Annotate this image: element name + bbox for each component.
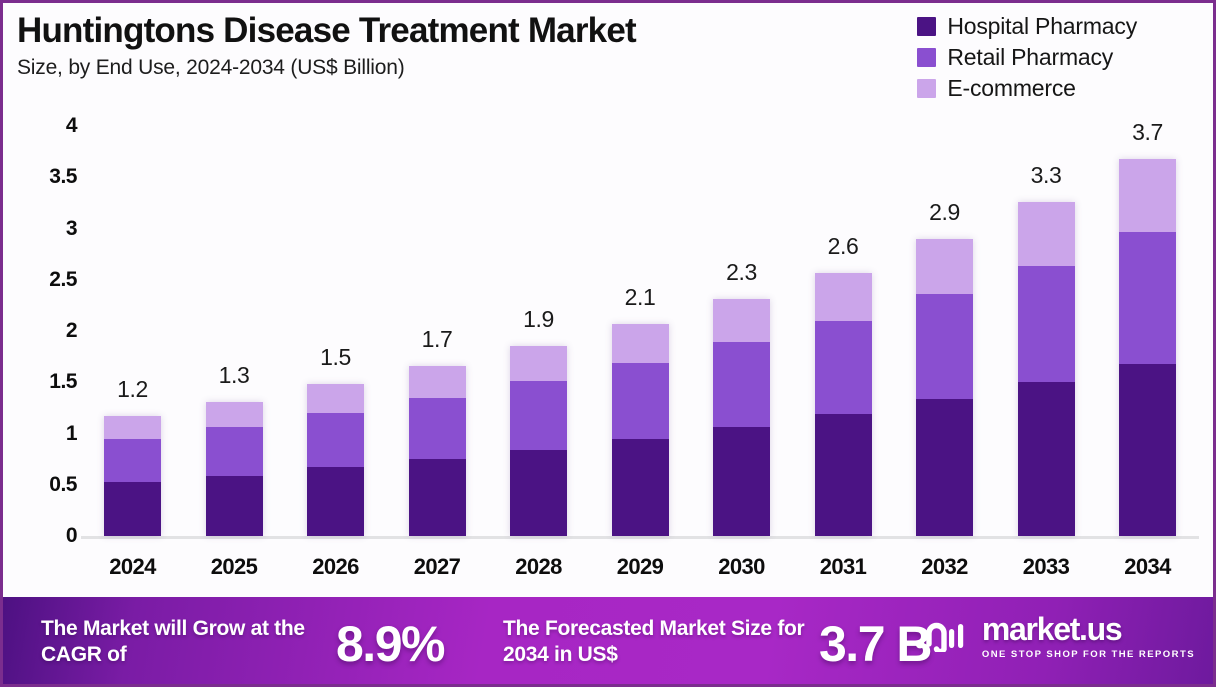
stacked-bar[interactable]	[815, 273, 872, 536]
bar-group[interactable]: 1.22024	[104, 3, 161, 603]
bar-value-label: 2.3	[672, 259, 812, 286]
bar-segment-retail-pharmacy[interactable]	[1119, 232, 1176, 364]
y-axis-tick-label: 3.5	[21, 165, 77, 189]
bar-segment-hospital-pharmacy[interactable]	[510, 450, 567, 536]
bar-value-label: 3.3	[976, 162, 1116, 189]
bar-segment-hospital-pharmacy[interactable]	[409, 459, 466, 536]
y-axis-tick-label: 2.5	[21, 268, 77, 292]
bar-segment-retail-pharmacy[interactable]	[713, 342, 770, 427]
bar-segment-retail-pharmacy[interactable]	[409, 398, 466, 460]
y-axis-tick-label: 4	[21, 114, 77, 138]
bar-segment-hospital-pharmacy[interactable]	[307, 467, 364, 536]
bar-value-label: 2.1	[570, 284, 710, 311]
bar-segment-retail-pharmacy[interactable]	[815, 321, 872, 414]
bar-segment-hospital-pharmacy[interactable]	[612, 439, 669, 536]
bar-segment-e-commerce[interactable]	[206, 402, 263, 428]
bar-segment-e-commerce[interactable]	[409, 366, 466, 398]
bar-segment-e-commerce[interactable]	[510, 346, 567, 381]
bar-group[interactable]: 1.32025	[206, 3, 263, 603]
brand-wordmark: market.us ONE STOP SHOP FOR THE REPORTS	[982, 613, 1195, 660]
chart-page: Huntingtons Disease Treatment Market Siz…	[0, 0, 1216, 687]
brand-name: market.us	[982, 613, 1195, 645]
footer-size-label: The Forecasted Market Size for 2034 in U…	[503, 616, 813, 669]
chart-plot-area: 00.511.522.533.541.220241.320251.520261.…	[3, 3, 1213, 603]
bar-group[interactable]: 3.72034	[1119, 3, 1176, 603]
y-axis-tick-label: 2	[21, 319, 77, 343]
bar-segment-e-commerce[interactable]	[104, 416, 161, 439]
bar-segment-e-commerce[interactable]	[612, 324, 669, 363]
stacked-bar[interactable]	[307, 384, 364, 536]
bar-group[interactable]: 2.32030	[713, 3, 770, 603]
stacked-bar[interactable]	[206, 402, 263, 536]
bar-value-label: 2.9	[875, 199, 1015, 226]
bar-group[interactable]: 2.12029	[612, 3, 669, 603]
y-axis-tick-label: 0	[21, 524, 77, 548]
footer-cagr-value: 8.9%	[336, 615, 444, 673]
bar-segment-e-commerce[interactable]	[1119, 159, 1176, 232]
bar-group[interactable]: 1.72027	[409, 3, 466, 603]
bar-group[interactable]: 1.52026	[307, 3, 364, 603]
stacked-bar[interactable]	[916, 239, 973, 536]
x-axis-tick-label: 2034	[1078, 554, 1216, 580]
bar-segment-hospital-pharmacy[interactable]	[104, 482, 161, 536]
bar-group[interactable]: 2.62031	[815, 3, 872, 603]
bar-segment-retail-pharmacy[interactable]	[612, 363, 669, 439]
bar-segment-retail-pharmacy[interactable]	[916, 294, 973, 399]
bar-segment-hospital-pharmacy[interactable]	[1119, 364, 1176, 536]
stacked-bar[interactable]	[510, 346, 567, 536]
bar-segment-e-commerce[interactable]	[916, 239, 973, 294]
bar-segment-hospital-pharmacy[interactable]	[713, 427, 770, 536]
stacked-bar[interactable]	[713, 299, 770, 536]
stacked-bar[interactable]	[612, 324, 669, 536]
bar-segment-hospital-pharmacy[interactable]	[206, 476, 263, 536]
y-axis-tick-label: 0.5	[21, 473, 77, 497]
bar-segment-hospital-pharmacy[interactable]	[815, 414, 872, 536]
bar-group[interactable]: 2.92032	[916, 3, 973, 603]
market-us-logo-icon	[915, 616, 971, 657]
stacked-bar[interactable]	[409, 366, 466, 536]
bar-group[interactable]: 3.32033	[1018, 3, 1075, 603]
bar-segment-retail-pharmacy[interactable]	[307, 413, 364, 467]
bar-value-label: 2.6	[773, 233, 913, 260]
bar-value-label: 3.7	[1078, 119, 1216, 146]
bar-segment-retail-pharmacy[interactable]	[510, 381, 567, 450]
y-axis-tick-label: 1	[21, 422, 77, 446]
bar-group[interactable]: 1.92028	[510, 3, 567, 603]
bar-segment-retail-pharmacy[interactable]	[104, 439, 161, 482]
bar-segment-retail-pharmacy[interactable]	[206, 427, 263, 475]
brand-logo: market.us ONE STOP SHOP FOR THE REPORTS	[915, 613, 1195, 660]
bar-segment-hospital-pharmacy[interactable]	[1018, 382, 1075, 536]
stacked-bar[interactable]	[104, 416, 161, 536]
bar-segment-e-commerce[interactable]	[713, 299, 770, 342]
y-axis-tick-label: 3	[21, 217, 77, 241]
stacked-bar[interactable]	[1119, 159, 1176, 536]
bar-segment-e-commerce[interactable]	[815, 273, 872, 321]
brand-tagline: ONE STOP SHOP FOR THE REPORTS	[982, 649, 1195, 660]
bar-segment-retail-pharmacy[interactable]	[1018, 266, 1075, 382]
footer-banner: The Market will Grow at the CAGR of 8.9%…	[3, 597, 1213, 684]
stacked-bar[interactable]	[1018, 202, 1075, 536]
bar-segment-hospital-pharmacy[interactable]	[916, 399, 973, 536]
bar-segment-e-commerce[interactable]	[1018, 202, 1075, 267]
bar-segment-e-commerce[interactable]	[307, 384, 364, 413]
footer-cagr-label: The Market will Grow at the CAGR of	[41, 616, 331, 669]
